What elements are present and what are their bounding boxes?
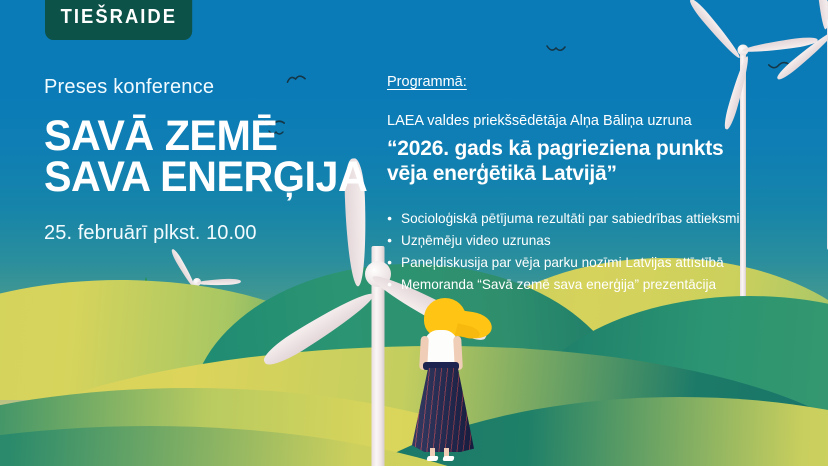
- page-title: SAVĀ ZEMĒ SAVA ENERĢIJA: [44, 116, 351, 199]
- headline-line-2: SAVA ENERĢIJA: [44, 157, 351, 198]
- programme-list: Socioloģiskā pētījuma rezultāti par sabi…: [387, 208, 807, 296]
- quote-line-1: “2026. gads kā pagrieziena punkts: [387, 137, 807, 162]
- poster-canvas: TIEŠRAIDE Preses konference SAVĀ ZEMĒ SA…: [0, 0, 828, 466]
- shoe: [426, 456, 438, 461]
- left-text-column: Preses konference SAVĀ ZEMĒ SAVA ENERĢIJ…: [44, 76, 364, 245]
- skirt-shade: [412, 368, 474, 452]
- programme-label: Programmā:: [387, 74, 807, 90]
- programme-column: Programmā: LAEA valdes priekšsēdētāja Al…: [387, 74, 807, 296]
- bird-icon: [546, 43, 566, 56]
- list-item: Uzņēmēju video uzrunas: [387, 230, 807, 252]
- list-item: Memoranda “Savā zemē sava enerģija” prez…: [387, 274, 807, 296]
- programme-quote-title: “2026. gads kā pagrieziena punkts vēja e…: [387, 137, 807, 186]
- list-item: Socioloģiskā pētījuma rezultāti par sabi…: [387, 208, 807, 230]
- list-item: Paneļdiskusija par vēja parku nozīmi Lat…: [387, 252, 807, 274]
- headline-line-1: SAVĀ ZEMĒ: [44, 116, 351, 157]
- shoe: [442, 456, 454, 461]
- event-datetime: 25. februārī plkst. 10.00: [44, 222, 364, 245]
- woman-figure: [400, 296, 510, 466]
- live-badge: TIEŠRAIDE: [45, 0, 193, 40]
- event-kicker: Preses konference: [44, 76, 364, 99]
- speaker-line: LAEA valdes priekšsēdētāja Alņa Bāliņa u…: [387, 113, 807, 129]
- quote-line-2: vēja enerģētikā Latvijā”: [387, 162, 807, 187]
